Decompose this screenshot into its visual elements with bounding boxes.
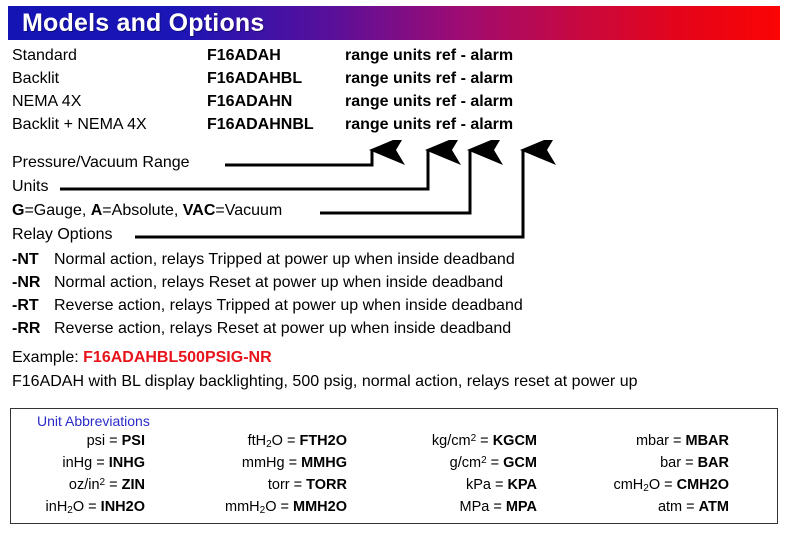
unit-abbreviations-box: Unit Abbreviations psi = PSIinHg = INHGo…	[10, 408, 778, 524]
list-item: -NRNormal action, relays Reset at power …	[12, 274, 782, 297]
unit-abbreviation-item: atm = ATM	[595, 499, 729, 521]
unit-abbreviation-item: psi = PSI	[11, 433, 145, 455]
unit-abbreviation-item: MPa = MPA	[403, 499, 537, 521]
model-suffix: range units ref - alarm	[345, 47, 513, 65]
unit-abbreviation-item: cmH2O = CMH2O	[595, 477, 729, 499]
unit-abbreviation-item: kPa = KPA	[403, 477, 537, 499]
unit-abbreviation-item: oz/in2 = ZIN	[11, 477, 145, 499]
unit-abbreviation-column: mbar = MBARbar = BARcmH2O = CMH2Oatm = A…	[595, 433, 777, 521]
table-row: NEMA 4XF16ADAHNrange units ref - alarm	[12, 93, 612, 116]
model-code: F16ADAHN	[207, 93, 292, 111]
model-suffix: range units ref - alarm	[345, 70, 513, 88]
unit-abbreviation-column: kg/cm2 = KGCMg/cm2 = GCMkPa = KPAMPa = M…	[403, 433, 595, 521]
relay-code: -RR	[12, 320, 40, 338]
model-code: F16ADAHNBL	[207, 116, 314, 134]
model-table: StandardF16ADAHrange units ref - alarmBa…	[12, 47, 612, 139]
header-banner: Models and Options	[8, 6, 780, 40]
callout-label-pressure-vacuum-range: Pressure/Vacuum Range	[12, 154, 190, 172]
unit-abbreviations-title: Unit Abbreviations	[37, 413, 150, 429]
relay-code: -NT	[12, 251, 39, 269]
model-suffix: range units ref - alarm	[345, 116, 513, 134]
relay-description: Normal action, relays Tripped at power u…	[54, 251, 515, 269]
unit-abbreviation-item: mmHg = MMHG	[213, 455, 347, 477]
example-line: Example: F16ADAHBL500PSIG-NR	[12, 349, 782, 373]
example-description: F16ADAH with BL display backlighting, 50…	[12, 373, 782, 391]
unit-abbreviation-item: ftH2O = FTH2O	[213, 433, 347, 455]
unit-abbreviations-columns: psi = PSIinHg = INHGoz/in2 = ZINinH2O = …	[11, 433, 777, 521]
relay-code: -NR	[12, 274, 40, 292]
unit-abbreviation-item: kg/cm2 = KGCM	[403, 433, 537, 455]
model-code: F16ADAH	[207, 47, 281, 65]
relay-code: -RT	[12, 297, 39, 315]
unit-abbreviation-item: mbar = MBAR	[595, 433, 729, 455]
table-row: StandardF16ADAHrange units ref - alarm	[12, 47, 612, 70]
model-description: NEMA 4X	[12, 93, 81, 111]
table-row: Backlit + NEMA 4XF16ADAHNBLrange units r…	[12, 116, 612, 139]
model-description: Standard	[12, 47, 77, 65]
model-description: Backlit + NEMA 4X	[12, 116, 147, 134]
unit-abbreviation-column: ftH2O = FTH2OmmHg = MMHGtorr = TORRmmH2O…	[213, 433, 403, 521]
unit-abbreviation-item: inHg = INHG	[11, 455, 145, 477]
example-block: Example: F16ADAHBL500PSIG-NR F16ADAH wit…	[12, 349, 782, 391]
unit-abbreviation-item: inH2O = INH2O	[11, 499, 145, 521]
callout-group: Pressure/Vacuum Range Units G=Gauge, A=A…	[0, 140, 788, 250]
relay-description: Normal action, relays Reset at power up …	[54, 274, 503, 292]
unit-abbreviation-item: mmH2O = MMH2O	[213, 499, 347, 521]
unit-abbreviation-item: bar = BAR	[595, 455, 729, 477]
page-title: Models and Options	[22, 9, 265, 38]
list-item: -RTReverse action, relays Tripped at pow…	[12, 297, 782, 320]
unit-abbreviation-item: g/cm2 = GCM	[403, 455, 537, 477]
relay-options-list: -NTNormal action, relays Tripped at powe…	[12, 251, 782, 343]
callout-label-relay-options: Relay Options	[12, 226, 113, 244]
unit-abbreviation-item: torr = TORR	[213, 477, 347, 499]
model-code: F16ADAHBL	[207, 70, 302, 88]
relay-description: Reverse action, relays Tripped at power …	[54, 297, 523, 315]
callout-label-pressure-type: G=Gauge, A=Absolute, VAC=Vacuum	[12, 202, 282, 220]
model-description: Backlit	[12, 70, 59, 88]
table-row: BacklitF16ADAHBLrange units ref - alarm	[12, 70, 612, 93]
list-item: -NTNormal action, relays Tripped at powe…	[12, 251, 782, 274]
model-suffix: range units ref - alarm	[345, 93, 513, 111]
list-item: -RRReverse action, relays Reset at power…	[12, 320, 782, 343]
example-prefix-label: Example:	[12, 349, 83, 366]
relay-description: Reverse action, relays Reset at power up…	[54, 320, 511, 338]
callout-label-units: Units	[12, 178, 48, 196]
example-model-code: F16ADAHBL500PSIG-NR	[83, 349, 271, 366]
unit-abbreviation-column: psi = PSIinHg = INHGoz/in2 = ZINinH2O = …	[11, 433, 213, 521]
